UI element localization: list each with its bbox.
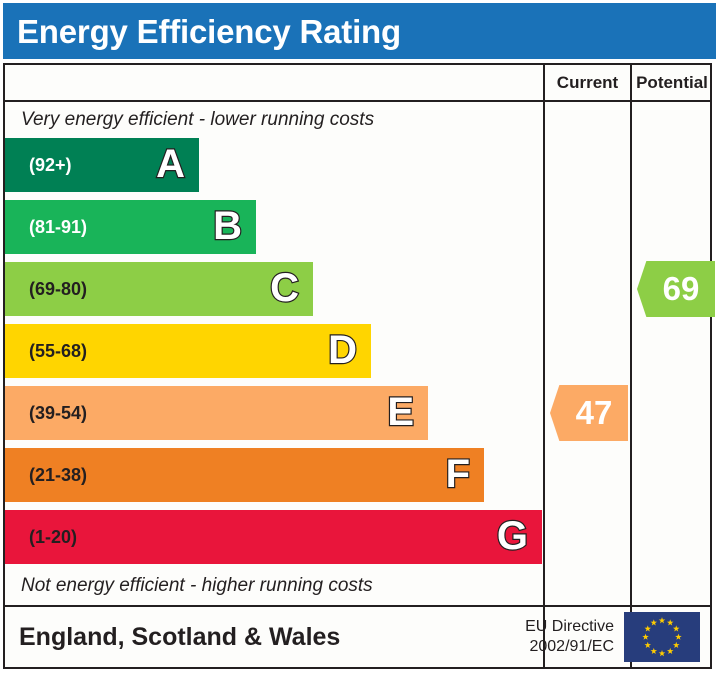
potential-column-divider bbox=[630, 65, 632, 667]
chart-title-bar: Energy Efficiency Rating bbox=[3, 3, 716, 59]
energy-efficiency-rating-chart: Energy Efficiency Rating Current Potenti… bbox=[0, 0, 719, 675]
footer-directive-group: EU Directive 2002/91/EC bbox=[525, 612, 710, 662]
eu-directive-line1: EU Directive bbox=[525, 617, 614, 637]
band-letter-label: E bbox=[387, 392, 414, 432]
band-letter-label: G bbox=[497, 516, 528, 556]
band-range-label: (81-91) bbox=[5, 217, 87, 238]
band-d: (55-68)D bbox=[5, 324, 371, 378]
band-letter-label: B bbox=[213, 206, 242, 246]
eu-directive-text: EU Directive 2002/91/EC bbox=[525, 617, 624, 657]
eu-directive-line2: 2002/91/EC bbox=[525, 637, 614, 657]
band-b: (81-91)B bbox=[5, 200, 256, 254]
band-letter-label: F bbox=[446, 454, 470, 494]
band-range-label: (69-80) bbox=[5, 279, 87, 300]
band-g: (1-20)G bbox=[5, 510, 542, 564]
band-range-label: (55-68) bbox=[5, 341, 87, 362]
band-letter-label: A bbox=[156, 144, 185, 184]
footer-region-label: England, Scotland & Wales bbox=[5, 623, 340, 652]
band-range-label: (21-38) bbox=[5, 465, 87, 486]
band-letter-label: D bbox=[328, 330, 357, 370]
band-range-label: (92+) bbox=[5, 155, 72, 176]
band-range-label: (39-54) bbox=[5, 403, 87, 424]
column-header-potential: Potential bbox=[632, 65, 712, 100]
current-column-divider bbox=[543, 65, 545, 667]
band-range-label: (1-20) bbox=[5, 527, 77, 548]
rating-table: Current Potential Very energy efficient … bbox=[3, 63, 712, 669]
efficiency-bands: (92+)A(81-91)B(69-80)C(55-68)D(39-54)E(2… bbox=[5, 138, 543, 573]
band-letter-label: C bbox=[270, 268, 299, 308]
band-f: (21-38)F bbox=[5, 448, 484, 502]
column-header-current: Current bbox=[545, 65, 630, 100]
page-title: Energy Efficiency Rating bbox=[3, 15, 401, 48]
band-e: (39-54)E bbox=[5, 386, 428, 440]
rating-marker-potential: 69 bbox=[637, 261, 715, 317]
band-a: (92+)A bbox=[5, 138, 199, 192]
header-divider bbox=[5, 100, 710, 102]
eu-flag-icon bbox=[624, 612, 700, 662]
caption-not-efficient: Not energy efficient - higher running co… bbox=[21, 575, 531, 597]
chart-footer: England, Scotland & Wales EU Directive 2… bbox=[5, 607, 710, 667]
band-c: (69-80)C bbox=[5, 262, 313, 316]
rating-marker-current: 47 bbox=[550, 385, 628, 441]
caption-very-efficient: Very energy efficient - lower running co… bbox=[21, 109, 531, 131]
